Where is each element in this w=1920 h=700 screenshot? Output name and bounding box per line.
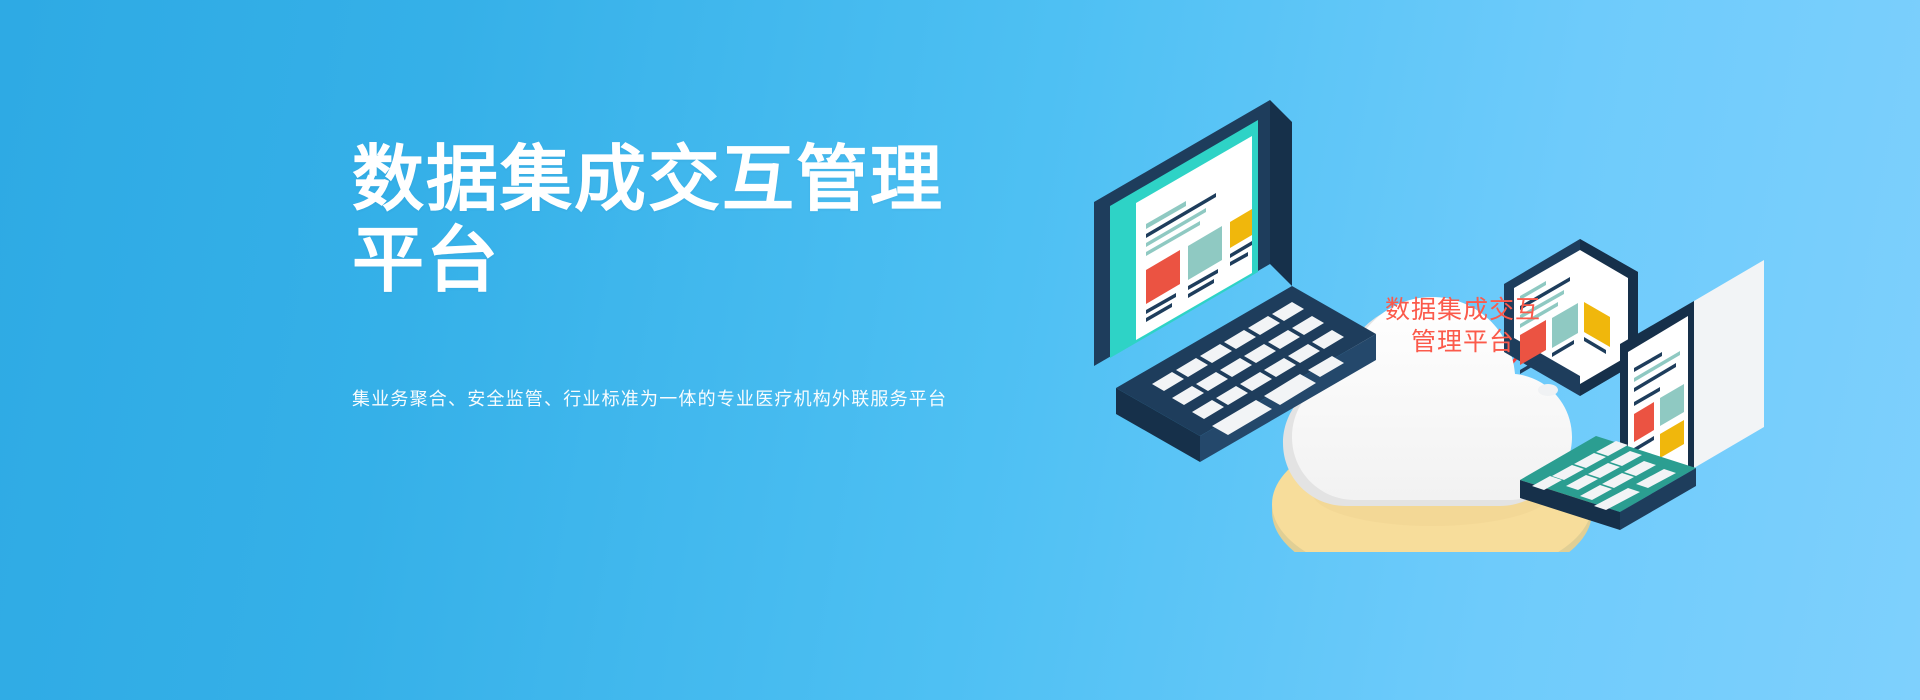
tablet-home-button [1538, 384, 1558, 396]
hero-banner: 数据集成交互管理平台 集业务聚合、安全监管、行业标准为一体的专业医疗机构外联服务… [0, 0, 1920, 700]
platform-illustration: 数据集成交互 管理平台 [1080, 72, 1840, 552]
tablet-device [1504, 239, 1638, 396]
banner-text-block: 数据集成交互管理平台 集业务聚合、安全监管、行业标准为一体的专业医疗机构外联服务… [352, 140, 1012, 411]
page-subtitle: 集业务聚合、安全监管、行业标准为一体的专业医疗机构外联服务平台 [352, 301, 1012, 411]
illustration-svg [1080, 72, 1840, 552]
page-title: 数据集成交互管理平台 [352, 140, 992, 301]
